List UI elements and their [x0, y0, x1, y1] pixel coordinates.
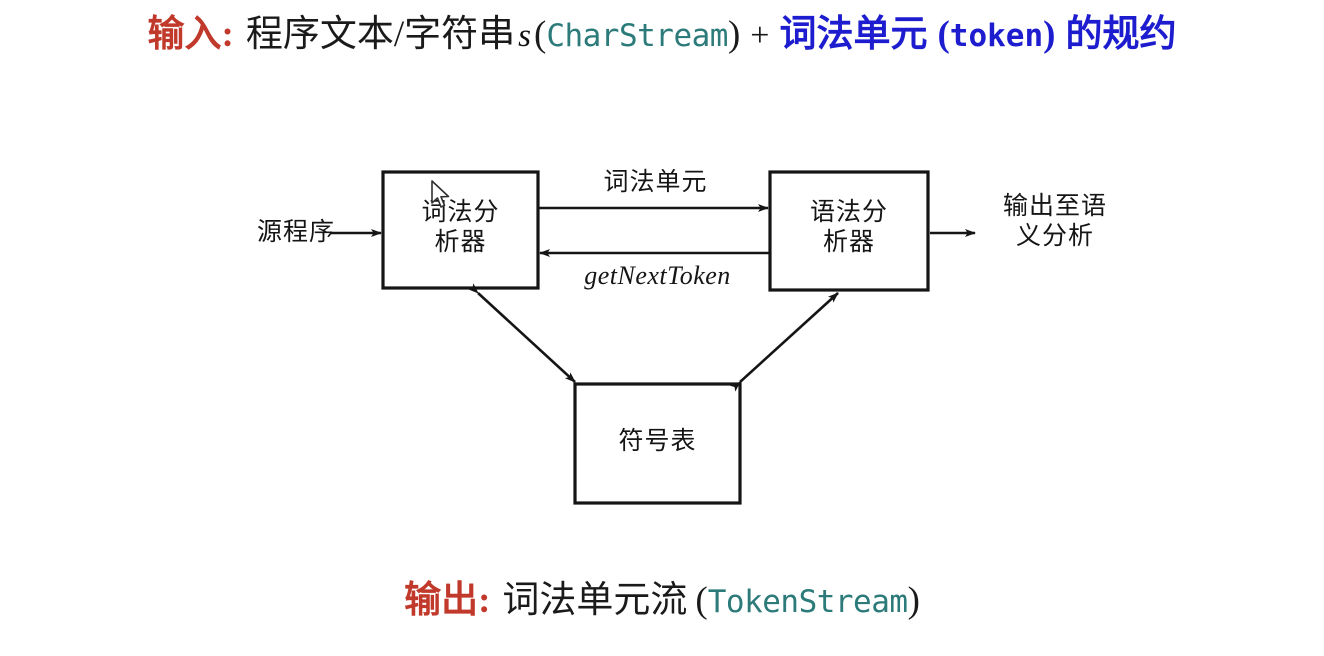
output-specification-line: 输出:词法单元流(TokenStream)	[0, 578, 1324, 624]
output-close-paren: )	[908, 580, 920, 621]
lexical-analyzer-label-line2: 析器	[383, 228, 538, 258]
syntax-analyzer-label-line2: 析器	[770, 228, 928, 258]
get-next-token-label: getNextToken	[565, 260, 750, 291]
token-close-paren: )	[1043, 14, 1055, 55]
input-specification-line: 输入:程序文本/字符串s(CharStream)+词法单元(token)的规约	[0, 12, 1324, 58]
input-text-before: 程序文本/字符串	[234, 14, 515, 55]
token-code-term: token	[950, 18, 1043, 54]
semantic-output-label: 输出至语 义分析	[980, 192, 1130, 252]
lexer-symboltable-link	[478, 293, 575, 382]
parser-symboltable-link	[740, 293, 838, 382]
semantic-output-label-line2: 义分析	[980, 222, 1130, 252]
compiler-frontend-diagram: 词法分 析器 语法分 析器 符号表 源程序 词法单元 getNextToken …	[0, 130, 1324, 550]
lexical-analyzer-label: 词法分 析器	[383, 198, 538, 257]
semantic-output-label-line1: 输出至语	[980, 192, 1130, 222]
input-variable-s: s	[515, 18, 534, 54]
output-open-paren: (	[687, 580, 707, 621]
token-spec-text-2: 的规约	[1055, 14, 1176, 55]
plus-sign: +	[740, 17, 779, 54]
lexical-analyzer-label-line1: 词法分	[383, 198, 538, 228]
output-text: 词法单元流	[490, 580, 687, 621]
tokenstream-code-term: TokenStream	[708, 584, 908, 620]
token-open-paren: (	[927, 14, 949, 55]
input-close-paren: )	[728, 14, 740, 55]
token-spec-text-1: 词法单元	[779, 14, 927, 55]
symbol-table-label: 符号表	[575, 427, 740, 457]
input-open-paren: (	[534, 14, 546, 55]
syntax-analyzer-label-line1: 语法分	[770, 198, 928, 228]
input-label: 输入:	[148, 14, 234, 55]
output-label: 输出:	[404, 580, 490, 621]
charstream-code-term: CharStream	[546, 18, 728, 54]
syntax-analyzer-label: 语法分 析器	[770, 198, 928, 257]
source-program-label: 源程序	[235, 218, 335, 248]
token-edge-label: 词法单元	[568, 168, 743, 198]
